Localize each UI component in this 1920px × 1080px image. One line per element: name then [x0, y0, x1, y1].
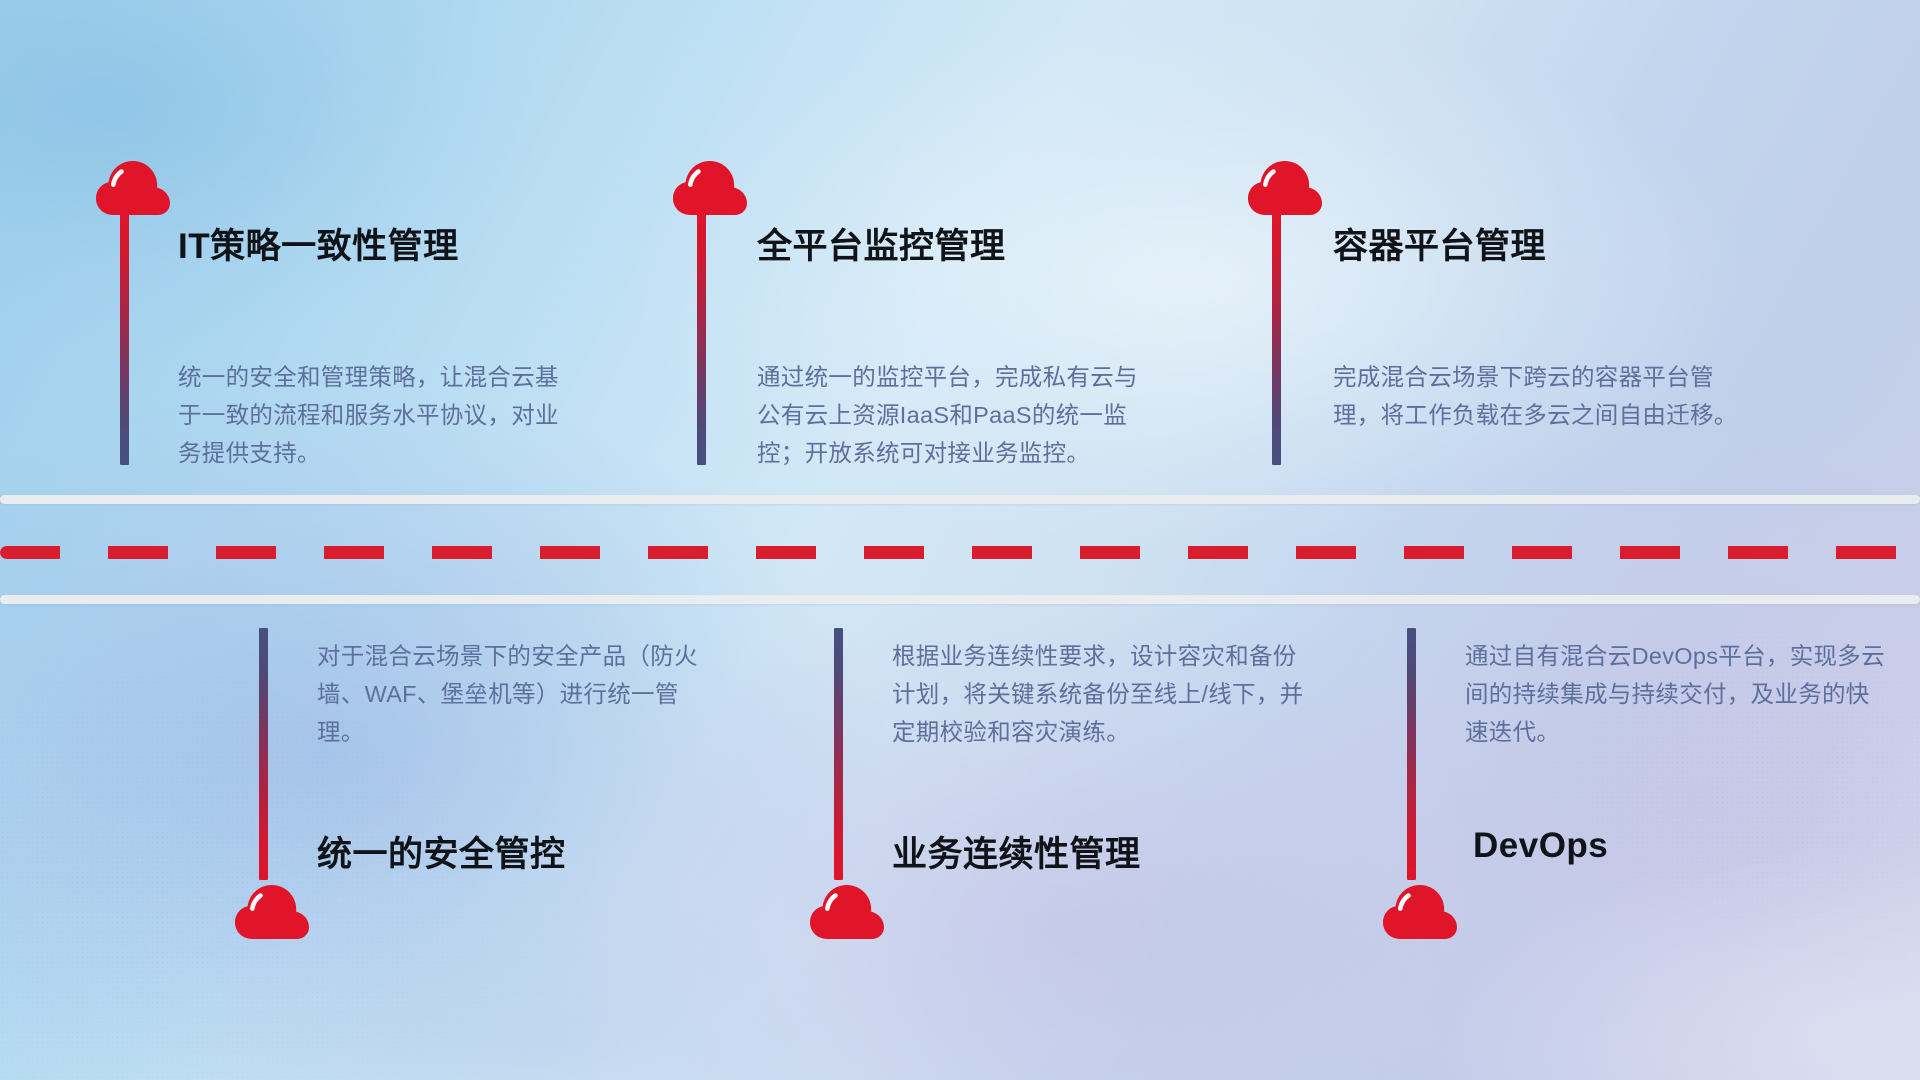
cloud-icon — [235, 884, 309, 940]
cloud-icon — [673, 160, 747, 216]
pin-description: 通过自有混合云DevOps平台，实现多云间的持续集成与持续交付，及业务的快速迭代… — [1465, 637, 1885, 751]
pin-stem — [120, 213, 129, 465]
pin-title: 统一的安全管控 — [317, 826, 566, 877]
road-edge-top — [0, 495, 1920, 504]
pin-description: 统一的安全和管理策略，让混合云基于一致的流程和服务水平协议，对业务提供支持。 — [178, 358, 578, 472]
cloud-icon — [1383, 884, 1457, 940]
road-edge-bottom — [0, 595, 1920, 604]
pin-description: 根据业务连续性要求，设计容灾和备份计划，将关键系统备份至线上/线下，并定期校验和… — [892, 637, 1312, 751]
pin-title: IT策略一致性管理 — [178, 218, 459, 269]
cloud-icon — [96, 160, 170, 216]
pin-title: DevOps — [1473, 826, 1608, 866]
pin-description: 对于混合云场景下的安全产品（防火墙、WAF、堡垒机等）进行统一管理。 — [317, 637, 717, 751]
pin-description: 完成混合云场景下跨云的容器平台管理，将工作负载在多云之间自由迁移。 — [1333, 358, 1753, 434]
pin-title: 业务连续性管理 — [892, 826, 1141, 877]
pin-title: 全平台监控管理 — [757, 218, 1006, 269]
infographic-canvas: IT策略一致性管理 统一的安全和管理策略，让混合云基于一致的流程和服务水平协议，… — [0, 0, 1920, 1080]
pin-stem — [697, 213, 706, 465]
pin-description: 通过统一的监控平台，完成私有云与公有云上资源IaaS和PaaS的统一监控；开放系… — [757, 358, 1157, 472]
road-center-dashed-line — [0, 546, 1920, 559]
pin-title: 容器平台管理 — [1333, 218, 1546, 269]
pin-stem — [1407, 628, 1416, 880]
pin-stem — [834, 628, 843, 880]
cloud-icon — [1248, 160, 1322, 216]
cloud-icon — [810, 884, 884, 940]
pin-stem — [259, 628, 268, 880]
pin-stem — [1272, 213, 1281, 465]
